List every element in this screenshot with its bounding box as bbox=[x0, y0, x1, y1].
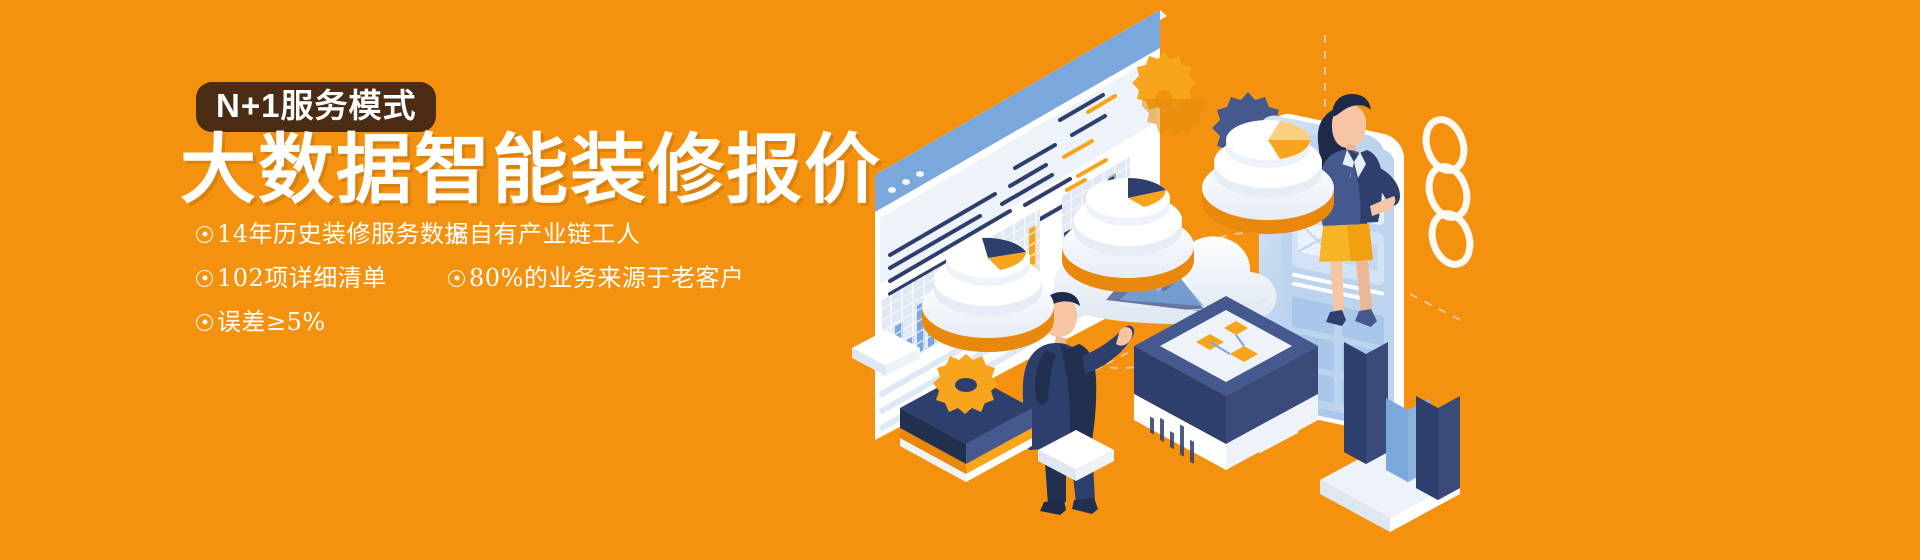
list-item: 误差≥5% bbox=[196, 310, 469, 334]
list-item-label: 自有产业链工人 bbox=[469, 222, 641, 246]
list-item: 80%的业务来源于老客户 bbox=[448, 266, 744, 290]
circled-dot-icon bbox=[196, 270, 213, 287]
list-item: 自有产业链工人 bbox=[448, 222, 744, 246]
promo-banner: N+1服务模式 大数据智能装修报价 14年历史装修服务数据 102项详细清单 误… bbox=[0, 0, 1920, 560]
list-item-label: 误差≥5% bbox=[217, 310, 326, 334]
list-item: 102项详细清单 bbox=[196, 266, 469, 290]
list-item-label: 80%的业务来源于老客户 bbox=[469, 266, 744, 290]
circled-dot-icon bbox=[196, 314, 213, 331]
page-title: 大数据智能装修报价 bbox=[180, 132, 882, 208]
circled-dot-icon bbox=[448, 226, 465, 243]
rings bbox=[1420, 115, 1476, 270]
circled-dot-icon bbox=[448, 270, 465, 287]
list-item-label: 102项详细清单 bbox=[217, 266, 387, 290]
list-item: 14年历史装修服务数据 bbox=[196, 222, 469, 246]
feature-list-right-column: 自有产业链工人 80%的业务来源于老客户 bbox=[448, 222, 744, 310]
circled-dot-icon bbox=[196, 226, 213, 243]
feature-list-left-column: 14年历史装修服务数据 102项详细清单 误差≥5% bbox=[196, 222, 469, 354]
isometric-illustration bbox=[820, 0, 1920, 560]
list-item-label: 14年历史装修服务数据 bbox=[217, 222, 469, 246]
